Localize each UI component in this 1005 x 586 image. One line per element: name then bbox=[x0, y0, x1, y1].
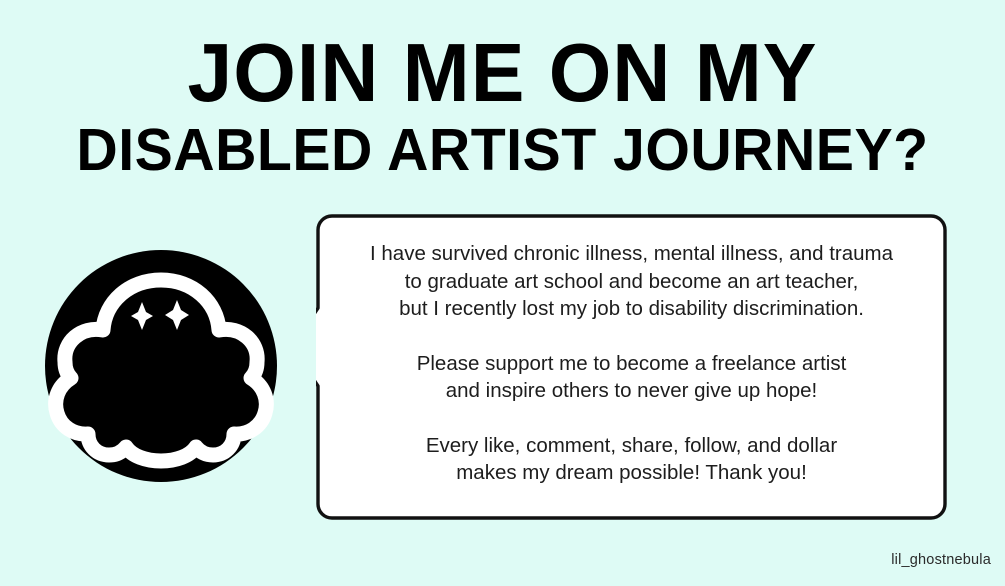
page-title-line-1: JOIN ME ON MY bbox=[15, 28, 990, 118]
avatar bbox=[45, 250, 277, 482]
paragraph-3-line-1: Every like, comment, share, follow, and … bbox=[338, 432, 925, 460]
paragraph-1-line-3: but I recently lost my job to disability… bbox=[338, 295, 925, 323]
poster-canvas: JOIN ME ON MY DISABLED ARTIST JOURNEY? I… bbox=[0, 0, 1005, 586]
bubble-body-text: I have survived chronic illness, mental … bbox=[338, 240, 925, 487]
paragraph-1-line-2: to graduate art school and become an art… bbox=[338, 268, 925, 296]
account-handle: lil_ghostnebula bbox=[891, 552, 991, 568]
paragraph-1-line-1: I have survived chronic illness, mental … bbox=[338, 240, 925, 268]
paragraph-spacer bbox=[338, 323, 925, 350]
speech-bubble: I have survived chronic illness, mental … bbox=[316, 214, 947, 520]
cloud-logo-icon bbox=[45, 250, 277, 482]
paragraph-3-line-2: makes my dream possible! Thank you! bbox=[338, 459, 925, 487]
page-title-line-2: DISABLED ARTIST JOURNEY? bbox=[15, 118, 990, 182]
paragraph-spacer bbox=[338, 405, 925, 432]
paragraph-2-line-1: Please support me to become a freelance … bbox=[338, 350, 925, 378]
paragraph-2-line-2: and inspire others to never give up hope… bbox=[338, 377, 925, 405]
